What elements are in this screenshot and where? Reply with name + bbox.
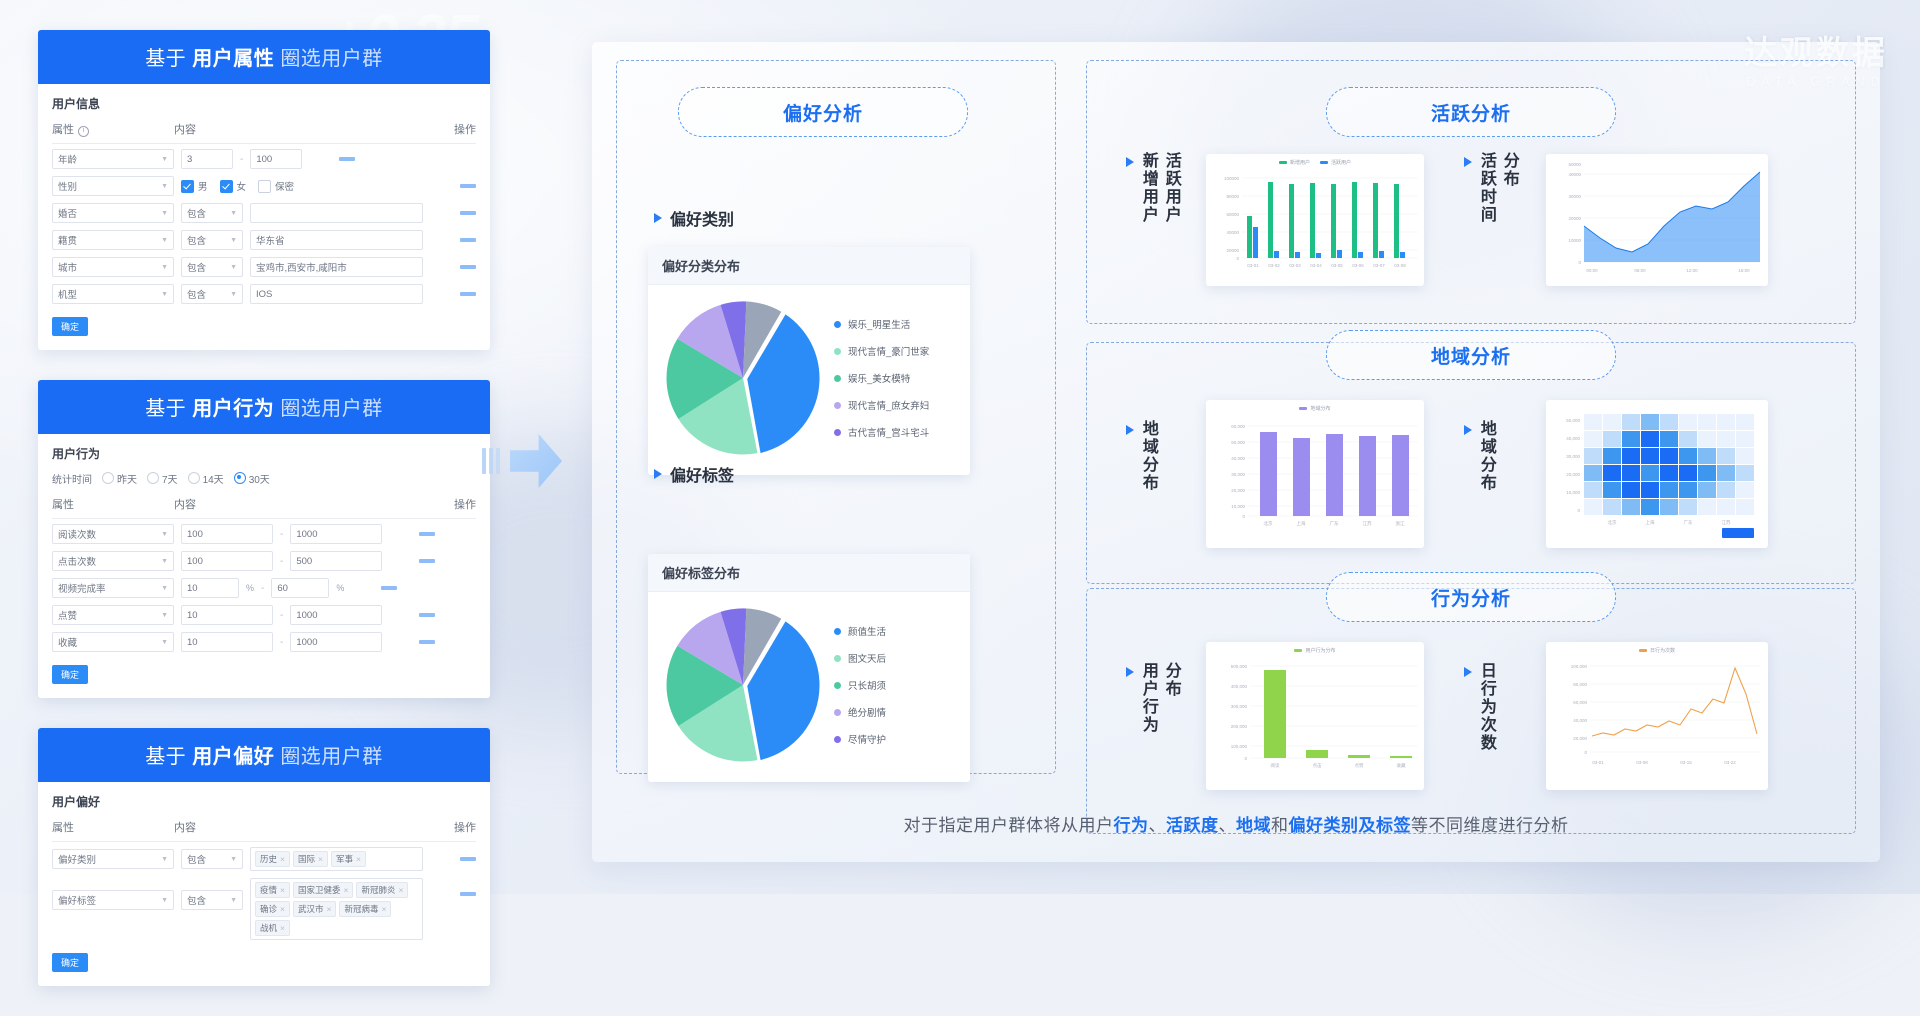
- close-icon[interactable]: ×: [327, 904, 332, 914]
- legend-item: 地域分布: [1299, 405, 1330, 412]
- close-icon[interactable]: ×: [280, 854, 285, 864]
- range-from-input[interactable]: 100: [181, 551, 273, 571]
- attr-select[interactable]: 籍贯▼: [52, 230, 174, 250]
- new-active-users-chart: 新增用户 活跃用户 020000 4000060000 80000100000: [1206, 154, 1424, 286]
- submit-button[interactable]: 确定: [52, 953, 88, 972]
- card2-col-value: 内容: [174, 496, 430, 512]
- table-row: 城市▼ 包含▼ 宝鸡市,西安市,咸阳市: [52, 257, 476, 277]
- legend-item: 现代言情_豪门世家: [834, 344, 929, 358]
- range-from-input[interactable]: 10: [181, 578, 239, 598]
- chart-legend: 新增用户 活跃用户: [1206, 154, 1424, 166]
- svg-text:上海: 上海: [1297, 520, 1306, 527]
- region-distribution-label-right: 地域分布: [1464, 420, 1552, 492]
- area-chart: 010000 2000030000 4000050000 00:0006:00 …: [1546, 154, 1768, 286]
- time-range-radios: 统计时间 昨天 7天 14天 30天: [52, 471, 476, 486]
- svg-text:10,000: 10,000: [1231, 504, 1245, 509]
- svg-text:30,000: 30,000: [1231, 472, 1245, 477]
- svg-text:0: 0: [1578, 260, 1581, 265]
- row-actions[interactable]: [430, 265, 476, 269]
- bar-chart-behavior: 0100,000 200,000300,000 400,000500,000 阅…: [1206, 654, 1424, 780]
- pie-legend-tags: 颜值生活 图文天后 只长胡须 绝分剧情 尽情守护: [834, 624, 886, 746]
- row-actions[interactable]: [389, 613, 435, 617]
- card3-title-suffix: 圈选用户群: [280, 746, 383, 768]
- tag-chip[interactable]: 新冠病毒×: [339, 901, 391, 917]
- left-card-column: 基于 用户属性 圈选用户群 用户信息 属性i 内容 操作 年龄▼ 3 - 100…: [38, 30, 490, 1016]
- operator-select[interactable]: 包含▼: [181, 890, 243, 910]
- card-user-preference-header: 基于 用户偏好 圈选用户群: [38, 728, 490, 782]
- svg-text:60,000: 60,000: [1573, 700, 1587, 705]
- svg-text:0: 0: [1236, 256, 1239, 261]
- card3-grid-header: 属性 内容 操作: [52, 819, 476, 842]
- attr-select[interactable]: 收藏▼: [52, 632, 174, 652]
- active-time-card: 010000 2000030000 4000050000 00:0006:00 …: [1546, 154, 1768, 286]
- svg-text:100,000: 100,000: [1231, 744, 1248, 749]
- region-bar-card: 地域分布 010,000 20,00030,000 40,00050,000 6…: [1206, 400, 1424, 548]
- time-range-label: 统计时间: [52, 471, 92, 486]
- range-dash: -: [261, 583, 264, 594]
- legend-item: 日行为次数: [1639, 647, 1675, 654]
- close-icon[interactable]: ×: [280, 923, 285, 933]
- svg-text:100,000: 100,000: [1571, 664, 1588, 669]
- value-input[interactable]: 宝鸡市,西安市,咸阳市: [250, 257, 423, 277]
- card3-title-prefix: 基于: [145, 746, 186, 768]
- delete-icon[interactable]: [339, 157, 355, 161]
- radio-14days[interactable]: 14天: [188, 471, 224, 486]
- delete-icon[interactable]: [460, 238, 476, 242]
- svg-text:03-08: 03-08: [1636, 760, 1648, 765]
- tag-input[interactable]: 历史× 国际× 军事×: [250, 847, 423, 871]
- pie-chart-tags: [658, 600, 828, 770]
- card-user-preference-body: 用户偏好 属性 内容 操作 偏好类别▼ 包含▼ 历史× 国际× 军事× 偏好标签…: [38, 782, 490, 986]
- svg-text:100000: 100000: [1224, 176, 1240, 181]
- radio-icon: [147, 472, 159, 484]
- preference-tag-chart: 颜值生活 图文天后 只长胡须 绝分剧情 尽情守护: [648, 592, 970, 778]
- line-chart-daily: 020,000 40,00060,000 80,000100,000 03-01…: [1546, 654, 1768, 780]
- attr-select[interactable]: 机型▼: [52, 284, 174, 304]
- card1-title-key: 用户属性: [192, 48, 274, 70]
- tag-chip[interactable]: 国家卫健委×: [293, 882, 353, 898]
- chevron-down-icon: ▼: [161, 585, 168, 592]
- card3-title-key: 用户偏好: [192, 746, 274, 768]
- svg-text:03-03: 03-03: [1289, 263, 1301, 268]
- svg-text:18:00: 18:00: [1738, 268, 1750, 273]
- attr-select[interactable]: 视频完成率▼: [52, 578, 174, 598]
- svg-text:200,000: 200,000: [1231, 724, 1248, 729]
- card2-col-action: 操作: [430, 496, 476, 512]
- svg-text:20000: 20000: [1568, 216, 1581, 221]
- tag-input[interactable]: 疫情× 国家卫健委× 新冠肺炎× 确诊× 武汉市× 新冠病毒× 战机×: [250, 878, 423, 940]
- submit-button[interactable]: 确定: [52, 317, 88, 336]
- delete-icon[interactable]: [460, 211, 476, 215]
- row-actions[interactable]: [389, 559, 435, 563]
- active-section-pill: 活跃分析: [1326, 87, 1616, 137]
- svg-text:阅读: 阅读: [1271, 762, 1280, 769]
- tag-chip[interactable]: 新冠肺炎×: [356, 882, 408, 898]
- table-row: 性别▼ 男 女 保密: [52, 176, 476, 196]
- svg-text:北京: 北京: [1608, 519, 1617, 526]
- range-to-input[interactable]: 1000: [290, 524, 382, 544]
- arrow-trail: [482, 448, 500, 474]
- pie-legend-categories: 娱乐_明星生活 现代言情_豪门世家 娱乐_美女模特 现代言情_庶女弃妇 古代言情…: [834, 317, 929, 439]
- checkbox-icon: [258, 180, 271, 193]
- card1-title-prefix: 基于: [145, 48, 186, 70]
- svg-text:0: 0: [1242, 514, 1245, 519]
- chevron-down-icon: ▼: [161, 264, 168, 271]
- svg-text:03-22: 03-22: [1724, 760, 1736, 765]
- row-actions[interactable]: [389, 640, 435, 644]
- chart-legend: 用户行为分布: [1206, 642, 1424, 654]
- card3-section-label: 用户偏好: [52, 793, 476, 810]
- svg-text:40,000: 40,000: [1231, 456, 1245, 461]
- info-icon: i: [78, 126, 89, 137]
- percent-sign: %: [336, 583, 344, 593]
- value-input[interactable]: [250, 203, 423, 223]
- svg-text:0: 0: [1577, 508, 1580, 513]
- svg-text:500,000: 500,000: [1231, 664, 1248, 669]
- table-row: 点击次数▼ 100 - 500: [52, 551, 476, 571]
- card2-title-prefix: 基于: [145, 398, 186, 420]
- card1-col-value: 内容: [174, 121, 430, 137]
- triangle-right-icon: [1464, 667, 1472, 677]
- table-row: 婚否▼ 包含▼: [52, 203, 476, 223]
- region-distribution-label-left: 地域分布: [1126, 420, 1214, 492]
- row-actions[interactable]: [430, 184, 476, 188]
- range-to-input[interactable]: 1000: [290, 632, 382, 652]
- legend-item: 绝分剧情: [834, 705, 886, 719]
- table-row: 偏好类别▼ 包含▼ 历史× 国际× 军事×: [52, 847, 476, 871]
- svg-text:80000: 80000: [1226, 194, 1239, 199]
- card-user-behavior-header: 基于 用户行为 圈选用户群: [38, 380, 490, 434]
- preference-tag-card: 偏好标签分布 颜值生活 图文天后 只: [648, 554, 970, 782]
- svg-text:广东: 广东: [1330, 520, 1339, 527]
- svg-text:20,000: 20,000: [1573, 736, 1587, 741]
- close-icon[interactable]: ×: [318, 854, 323, 864]
- tag-chip[interactable]: 战机×: [255, 920, 290, 936]
- row-actions[interactable]: [351, 586, 397, 590]
- card2-title-key: 用户行为: [192, 398, 274, 420]
- preference-section-pill: 偏好分析: [678, 87, 968, 137]
- triangle-right-icon: [654, 213, 662, 223]
- radio-yesterday[interactable]: 昨天: [102, 471, 137, 486]
- chevron-down-icon: ▼: [161, 639, 168, 646]
- delete-icon[interactable]: [460, 892, 476, 896]
- card1-col-attr: 属性: [52, 124, 74, 136]
- svg-text:浙江: 浙江: [1396, 520, 1405, 527]
- svg-text:80,000: 80,000: [1573, 682, 1587, 687]
- triangle-right-icon: [654, 469, 662, 479]
- daily-behavior-chart: 日行为次数 020,000 40,00060,000 80,000100,000: [1546, 642, 1768, 790]
- value-input[interactable]: IOS: [250, 284, 423, 304]
- card-user-attributes-header: 基于 用户属性 圈选用户群: [38, 30, 490, 84]
- svg-text:点击: 点击: [1313, 762, 1322, 769]
- card3-col-attr: 属性: [52, 819, 174, 835]
- preference-category-chart: 娱乐_明星生活 现代言情_豪门世家 娱乐_美女模特 现代言情_庶女弃妇 古代言情…: [648, 285, 970, 471]
- table-row: 视频完成率▼ 10 % - 60 %: [52, 578, 476, 598]
- preference-tag-label: 偏好标签: [654, 462, 734, 486]
- attr-select[interactable]: 点赞▼: [52, 605, 174, 625]
- card2-section-label: 用户行为: [52, 445, 476, 462]
- svg-text:300,000: 300,000: [1231, 704, 1248, 709]
- chevron-down-icon: ▼: [161, 897, 168, 904]
- svg-text:10000: 10000: [1568, 238, 1581, 243]
- legend-item: 现代言情_庶女弃妇: [834, 398, 929, 412]
- delete-icon[interactable]: [460, 265, 476, 269]
- svg-text:03-06: 03-06: [1352, 263, 1364, 268]
- behavior-section-pill: 行为分析: [1326, 572, 1616, 622]
- table-row: 偏好标签▼ 包含▼ 疫情× 国家卫健委× 新冠肺炎× 确诊× 武汉市× 新冠病毒…: [52, 878, 476, 940]
- new-active-users-card: 新增用户 活跃用户 020000 4000060000 80000100000: [1206, 154, 1424, 286]
- card1-col-action: 操作: [430, 121, 476, 137]
- svg-text:03-01: 03-01: [1592, 760, 1604, 765]
- legend-item: 图文天后: [834, 651, 886, 665]
- svg-text:12:00: 12:00: [1686, 268, 1698, 273]
- range-dash: -: [280, 556, 283, 567]
- value-input[interactable]: 华东省: [250, 230, 423, 250]
- chevron-down-icon: ▼: [161, 210, 168, 217]
- chevron-down-icon: ▼: [230, 210, 237, 217]
- chevron-down-icon: ▼: [230, 237, 237, 244]
- range-from-input[interactable]: 10: [181, 632, 273, 652]
- tag-chip[interactable]: 武汉市×: [293, 901, 336, 917]
- attr-select[interactable]: 性别▼: [52, 176, 174, 196]
- close-icon[interactable]: ×: [356, 854, 361, 864]
- row-actions[interactable]: [309, 157, 355, 161]
- chart-legend: 地域分布: [1206, 400, 1424, 412]
- pie-chart-categories: [658, 293, 828, 463]
- svg-text:400,000: 400,000: [1231, 684, 1248, 689]
- arrow-head-icon: [510, 434, 562, 488]
- card-user-behavior-body: 用户行为 统计时间 昨天 7天 14天 30天 属性 内容 操作 阅读次数▼ 1…: [38, 434, 490, 698]
- table-row: 机型▼ 包含▼ IOS: [52, 284, 476, 304]
- attr-select[interactable]: 城市▼: [52, 257, 174, 277]
- delete-icon[interactable]: [419, 559, 435, 563]
- chevron-down-icon: ▼: [161, 531, 168, 538]
- row-actions[interactable]: [430, 238, 476, 242]
- svg-text:广东: 广东: [1684, 519, 1693, 526]
- legend-item: 尽情守护: [834, 732, 886, 746]
- tag-chip[interactable]: 疫情×: [255, 882, 290, 898]
- operator-select[interactable]: 包含▼: [181, 257, 243, 277]
- attr-select[interactable]: 阅读次数▼: [52, 524, 174, 544]
- svg-text:50,000: 50,000: [1566, 418, 1580, 423]
- panel-footnote: 对于指定用户群体将从用户行为、活跃度、地域和偏好类别及标签等不同维度进行分析: [592, 811, 1880, 836]
- attr-select[interactable]: 点击次数▼: [52, 551, 174, 571]
- svg-text:03-02: 03-02: [1268, 263, 1280, 268]
- preference-category-label: 偏好类别: [654, 206, 734, 230]
- attr-select[interactable]: 婚否▼: [52, 203, 174, 223]
- chevron-down-icon: ▼: [230, 264, 237, 271]
- preference-category-card-title: 偏好分类分布: [648, 247, 970, 285]
- legend-item: 活跃用户: [1320, 159, 1351, 166]
- card2-grid-header: 属性 内容 操作: [52, 496, 476, 519]
- triangle-right-icon: [1126, 667, 1134, 677]
- triangle-right-icon: [1464, 425, 1472, 435]
- active-time-chart: 010000 2000030000 4000050000 00:0006:00 …: [1546, 154, 1768, 286]
- table-row: 点赞▼ 10 - 1000: [52, 605, 476, 625]
- table-row: 阅读次数▼ 100 - 1000: [52, 524, 476, 544]
- svg-text:40,000: 40,000: [1573, 718, 1587, 723]
- range-dash: -: [280, 529, 283, 540]
- close-icon[interactable]: ×: [381, 904, 386, 914]
- svg-text:0: 0: [1244, 756, 1247, 761]
- chevron-down-icon: ▼: [230, 897, 237, 904]
- svg-text:60000: 60000: [1226, 212, 1239, 217]
- delete-icon[interactable]: [419, 640, 435, 644]
- delete-icon[interactable]: [381, 586, 397, 590]
- svg-text:江苏: 江苏: [1363, 520, 1372, 527]
- card-user-preference: 基于 用户偏好 圈选用户群 用户偏好 属性 内容 操作 偏好类别▼ 包含▼ 历史…: [38, 728, 490, 986]
- radio-icon: [102, 472, 114, 484]
- grouped-bar-chart: 020000 4000060000 80000100000 03-0103-02: [1206, 166, 1424, 274]
- legend-item: 新增用户: [1279, 159, 1310, 166]
- region-heatmap-card: 50,00040,000 30,00020,000 10,0000 北京上海 广…: [1546, 400, 1768, 548]
- range-from-input[interactable]: 100: [181, 524, 273, 544]
- row-actions[interactable]: [430, 892, 476, 896]
- svg-text:10,000: 10,000: [1566, 490, 1580, 495]
- chevron-down-icon: ▼: [161, 558, 168, 565]
- chevron-down-icon: ▼: [161, 856, 168, 863]
- card3-col-value: 内容: [174, 819, 430, 835]
- flow-arrow: [482, 430, 572, 500]
- table-row: 年龄▼ 3 - 100: [52, 149, 476, 169]
- delete-icon[interactable]: [460, 292, 476, 296]
- card-user-attributes: 基于 用户属性 圈选用户群 用户信息 属性i 内容 操作 年龄▼ 3 - 100…: [38, 30, 490, 350]
- range-to-input[interactable]: 500: [290, 551, 382, 571]
- svg-text:40000: 40000: [1568, 172, 1581, 177]
- chevron-down-icon: ▼: [161, 291, 168, 298]
- attr-select[interactable]: 偏好标签▼: [52, 890, 174, 910]
- region-heatmap-chart: 50,00040,000 30,00020,000 10,0000 北京上海 广…: [1546, 400, 1768, 548]
- card1-title-suffix: 圈选用户群: [280, 48, 383, 70]
- svg-text:03-07: 03-07: [1373, 263, 1385, 268]
- analysis-panel: 偏好分析 偏好类别 偏好分类分布: [592, 42, 1880, 862]
- svg-text:03-15: 03-15: [1680, 760, 1692, 765]
- radio-icon: [234, 472, 246, 484]
- bar-chart-region: 010,000 20,00030,000 40,00050,000 60,000…: [1206, 412, 1424, 538]
- table-row: 籍贯▼ 包含▼ 华东省: [52, 230, 476, 250]
- chevron-down-icon: ▼: [230, 856, 237, 863]
- legend-item: 颜值生活: [834, 624, 886, 638]
- svg-text:40,000: 40,000: [1566, 436, 1580, 441]
- card-user-attributes-body: 用户信息 属性i 内容 操作 年龄▼ 3 - 100 性别▼ 男 女 保密: [38, 84, 490, 350]
- range-from-input[interactable]: 10: [181, 605, 273, 625]
- card2-title-suffix: 圈选用户群: [280, 398, 383, 420]
- tag-chip[interactable]: 军事×: [331, 851, 366, 867]
- delete-icon[interactable]: [460, 184, 476, 188]
- svg-text:0: 0: [1584, 750, 1587, 755]
- attr-select[interactable]: 偏好类别▼: [52, 849, 174, 869]
- legend-item: 娱乐_明星生活: [834, 317, 929, 331]
- chevron-down-icon: ▼: [161, 183, 168, 190]
- svg-text:30000: 30000: [1568, 194, 1581, 199]
- svg-text:20000: 20000: [1226, 248, 1239, 253]
- legend-item: 只长胡须: [834, 678, 886, 692]
- svg-text:20,000: 20,000: [1566, 472, 1580, 477]
- svg-text:03-04: 03-04: [1310, 263, 1322, 268]
- row-actions[interactable]: [389, 532, 435, 536]
- card3-col-action: 操作: [430, 819, 476, 835]
- radio-7days[interactable]: 7天: [147, 471, 178, 486]
- triangle-right-icon: [1126, 157, 1134, 167]
- chevron-down-icon: ▼: [161, 237, 168, 244]
- svg-text:40000: 40000: [1226, 230, 1239, 235]
- operator-select[interactable]: 包含▼: [181, 284, 243, 304]
- row-actions[interactable]: [430, 211, 476, 215]
- checkbox-icon: [220, 180, 233, 193]
- operator-select[interactable]: 包含▼: [181, 230, 243, 250]
- radio-icon: [188, 472, 200, 484]
- checkbox-icon: [181, 180, 194, 193]
- daily-behavior-card: 日行为次数 020,000 40,00060,000 80,000100,000: [1546, 642, 1768, 790]
- tag-chip[interactable]: 历史×: [255, 851, 290, 867]
- range-to-input[interactable]: 1000: [290, 605, 382, 625]
- tag-chip[interactable]: 国际×: [293, 851, 328, 867]
- delete-icon[interactable]: [460, 857, 476, 861]
- submit-button[interactable]: 确定: [52, 665, 88, 684]
- heatmap: 50,00040,000 30,00020,000 10,0000 北京上海 广…: [1546, 400, 1768, 548]
- checkbox-female[interactable]: 女: [220, 179, 247, 193]
- svg-text:50000: 50000: [1568, 162, 1581, 167]
- row-actions[interactable]: [430, 857, 476, 861]
- legend-item: 用户行为分布: [1294, 647, 1335, 654]
- legend-item: 娱乐_美女模特: [834, 371, 929, 385]
- user-behavior-card: 用户行为分布 0100,000 200,000300,000 400,00050…: [1206, 642, 1424, 790]
- svg-text:50,000: 50,000: [1231, 440, 1245, 445]
- range-to-input[interactable]: 100: [250, 149, 302, 169]
- svg-text:06:00: 06:00: [1634, 268, 1646, 273]
- chart-legend: 日行为次数: [1546, 642, 1768, 654]
- card2-col-attr: 属性: [52, 496, 174, 512]
- legend-item: 古代言情_宫斗宅斗: [834, 425, 929, 439]
- region-bar-chart: 地域分布 010,000 20,00030,000 40,00050,000 6…: [1206, 400, 1424, 548]
- radio-30days[interactable]: 30天: [234, 471, 270, 486]
- delete-icon[interactable]: [419, 613, 435, 617]
- checkbox-male[interactable]: 男: [181, 179, 208, 193]
- card1-section-label: 用户信息: [52, 95, 476, 112]
- operator-select[interactable]: 包含▼: [181, 203, 243, 223]
- svg-text:点赞: 点赞: [1355, 762, 1364, 769]
- svg-text:03-08: 03-08: [1394, 263, 1406, 268]
- tag-chip[interactable]: 确诊×: [255, 901, 290, 917]
- delete-icon[interactable]: [419, 532, 435, 536]
- svg-text:60,000: 60,000: [1231, 424, 1245, 429]
- svg-text:上海: 上海: [1646, 519, 1655, 526]
- percent-sign: %: [246, 583, 254, 593]
- svg-text:20,000: 20,000: [1231, 488, 1245, 493]
- operator-select[interactable]: 包含▼: [181, 849, 243, 869]
- region-section-pill: 地域分析: [1326, 330, 1616, 380]
- svg-text:收藏: 收藏: [1397, 762, 1406, 769]
- svg-text:江苏: 江苏: [1722, 519, 1731, 526]
- checkbox-secret[interactable]: 保密: [258, 179, 294, 193]
- range-to-input[interactable]: 60: [271, 578, 329, 598]
- svg-text:03-01: 03-01: [1247, 263, 1259, 268]
- triangle-right-icon: [1464, 157, 1472, 167]
- preference-category-card: 偏好分类分布 娱乐_明星生活 现代言情_豪门世家: [648, 247, 970, 475]
- table-row: 收藏▼ 10 - 1000: [52, 632, 476, 652]
- chevron-down-icon: ▼: [161, 156, 168, 163]
- svg-text:北京: 北京: [1264, 520, 1273, 527]
- range-dash: -: [280, 637, 283, 648]
- close-icon[interactable]: ×: [280, 904, 285, 914]
- row-actions[interactable]: [430, 292, 476, 296]
- svg-text:00:00: 00:00: [1586, 268, 1598, 273]
- range-from-input[interactable]: 3: [181, 149, 233, 169]
- card1-grid-header: 属性i 内容 操作: [52, 121, 476, 144]
- card-user-behavior: 基于 用户行为 圈选用户群 用户行为 统计时间 昨天 7天 14天 30天 属性…: [38, 380, 490, 698]
- attr-select[interactable]: 年龄▼: [52, 149, 174, 169]
- triangle-right-icon: [1126, 425, 1134, 435]
